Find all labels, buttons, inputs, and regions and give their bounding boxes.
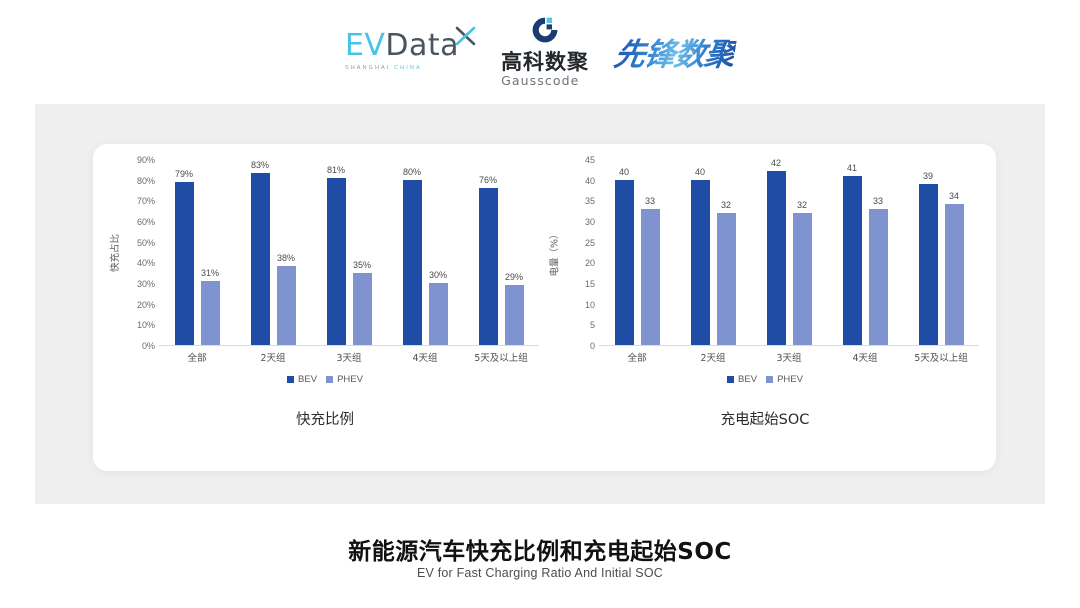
- y-axis-title-text: 电量（%）: [547, 229, 561, 276]
- bar-value-label: 29%: [505, 272, 523, 282]
- x-axis-label: 4天组: [412, 350, 437, 364]
- y-axis-tick: 30%: [137, 279, 155, 289]
- bar-value-label: 34: [949, 191, 959, 201]
- bar-value-label: 40: [695, 167, 705, 177]
- y-axis-tick: 15: [585, 279, 595, 289]
- bar-group: 81%35%: [311, 159, 387, 345]
- legend-label: PHEV: [337, 374, 363, 385]
- bar-group: 4232: [751, 159, 827, 345]
- bar-phev: 38%: [277, 266, 296, 345]
- x-axis-label: 2天组: [260, 350, 285, 364]
- bar-bev: 80%: [403, 180, 422, 345]
- bar-group: 4133: [827, 159, 903, 345]
- gausscode-logo: 高科数聚 Gausscode: [501, 15, 589, 88]
- chart-initial-soc: 电量（%） 454035302520151050 403340324232413…: [545, 160, 985, 460]
- x-axis-label: 全部: [187, 350, 206, 364]
- legend-label: BEV: [738, 374, 757, 385]
- bar-phev: 32: [793, 213, 812, 345]
- bar-value-label: 30%: [429, 270, 447, 280]
- evdata-logo: EVData SHANGHAI CHINA: [345, 31, 475, 72]
- gausscode-en-name: Gausscode: [501, 75, 589, 88]
- bar-value-label: 41: [847, 163, 857, 173]
- legend-swatch-icon: [326, 376, 333, 383]
- y-axis-tick: 10: [585, 300, 595, 310]
- y-axis-tick: 70%: [137, 196, 155, 206]
- evdata-tagline: SHANGHAI CHINA: [345, 66, 459, 72]
- y-axis-tick: 10%: [137, 320, 155, 330]
- legend-item-bev[interactable]: BEV: [287, 374, 317, 385]
- y-axis-tick: 0%: [142, 341, 155, 351]
- bar-phev: 30%: [429, 283, 448, 345]
- legend-swatch-icon: [287, 376, 294, 383]
- bar-bev: 40: [615, 180, 634, 345]
- y-axis-tick: 20: [585, 258, 595, 268]
- bar-phev: 35%: [353, 273, 372, 345]
- x-axis-label: 4天组: [852, 350, 877, 364]
- evdata-tagline-country: CHINA: [394, 65, 422, 71]
- bar-value-label: 31%: [201, 268, 219, 278]
- y-axis-tick: 5: [590, 320, 595, 330]
- y-axis-tick: 20%: [137, 300, 155, 310]
- chart-caption: 快充比例: [105, 408, 545, 429]
- page-subtitle: EV for Fast Charging Ratio And Initial S…: [0, 566, 1080, 580]
- bar-group: 80%30%: [387, 159, 463, 345]
- bar-value-label: 40: [619, 167, 629, 177]
- bar-value-label: 38%: [277, 253, 295, 263]
- bar-value-label: 76%: [479, 175, 497, 185]
- bar-group: 76%29%: [463, 159, 539, 345]
- chart-legend: BEVPHEV: [545, 372, 985, 386]
- gausscode-text: 高科数聚 Gausscode: [501, 52, 589, 88]
- x-axis-label: 3天组: [776, 350, 801, 364]
- x-axis-label: 5天及以上组: [474, 350, 528, 364]
- y-axis-ticks: 90%80%70%60%50%40%30%20%10%0%: [121, 160, 155, 346]
- evdata-ev-text: EV: [345, 28, 385, 63]
- xianfeng-wordmark: 先锋数聚: [611, 29, 738, 74]
- x-cross-icon: [455, 25, 477, 47]
- bar-bev: 83%: [251, 173, 270, 345]
- chart-legend: BEVPHEV: [105, 372, 545, 386]
- plot-area: 40334032423241333934: [599, 160, 979, 346]
- evdata-data-text: Data: [385, 28, 459, 63]
- bar-value-label: 32: [797, 200, 807, 210]
- legend-item-phev[interactable]: PHEV: [326, 374, 363, 385]
- page-title: 新能源汽车快充比例和充电起始SOC: [0, 532, 1080, 566]
- charts-card: 快充占比 90%80%70%60%50%40%30%20%10%0% 79%31…: [93, 144, 996, 471]
- y-axis-tick: 80%: [137, 176, 155, 186]
- bar-group: 3934: [903, 159, 979, 345]
- legend-item-phev[interactable]: PHEV: [766, 374, 803, 385]
- bar-value-label: 32: [721, 200, 731, 210]
- plot-area-wrapper: 快充占比 90%80%70%60%50%40%30%20%10%0% 79%31…: [105, 160, 545, 365]
- x-axis-label: 2天组: [700, 350, 725, 364]
- bar-phev: 31%: [201, 281, 220, 345]
- evdata-tagline-city: SHANGHAI: [345, 65, 391, 71]
- chart-caption: 充电起始SOC: [545, 408, 985, 429]
- bar-group: 4033: [599, 159, 675, 345]
- y-axis-tick: 30: [585, 217, 595, 227]
- y-axis-tick: 40%: [137, 258, 155, 268]
- bar-phev: 33: [641, 209, 660, 345]
- bar-group: 79%31%: [159, 159, 235, 345]
- y-axis-tick: 25: [585, 238, 595, 248]
- bar-bev: 79%: [175, 182, 194, 345]
- bar-phev: 34: [945, 204, 964, 345]
- plot-area: 79%31%83%38%81%35%80%30%76%29%: [159, 160, 539, 346]
- y-axis-tick: 0: [590, 341, 595, 351]
- x-axis-label: 5天及以上组: [914, 350, 968, 364]
- y-axis-tick: 60%: [137, 217, 155, 227]
- y-axis-title-text: 快充占比: [107, 234, 121, 272]
- bar-value-label: 33: [645, 196, 655, 206]
- legend-swatch-icon: [766, 376, 773, 383]
- bar-value-label: 79%: [175, 169, 193, 179]
- y-axis-tick: 45: [585, 155, 595, 165]
- bar-phev: 32: [717, 213, 736, 345]
- legend-label: BEV: [298, 374, 317, 385]
- y-axis-tick: 40: [585, 176, 595, 186]
- bar-value-label: 35%: [353, 260, 371, 270]
- plot-area-wrapper: 电量（%） 454035302520151050 403340324232413…: [545, 160, 985, 365]
- bar-bev: 39: [919, 184, 938, 345]
- gausscode-c-icon: [530, 15, 560, 45]
- slide-page: EVData SHANGHAI CHINA 高科数聚 Gausscode: [0, 0, 1080, 608]
- y-axis-ticks: 454035302520151050: [561, 160, 595, 346]
- x-axis-labels: 全部2天组3天组4天组5天及以上组: [599, 350, 979, 366]
- y-axis-title: 电量（%）: [547, 160, 561, 346]
- bar-group: 83%38%: [235, 159, 311, 345]
- legend-label: PHEV: [777, 374, 803, 385]
- evdata-wordmark: EVData: [345, 31, 459, 61]
- x-axis-labels: 全部2天组3天组4天组5天及以上组: [159, 350, 539, 366]
- bar-phev: 29%: [505, 285, 524, 345]
- y-axis-tick: 35: [585, 196, 595, 206]
- gausscode-cn-name: 高科数聚: [501, 52, 589, 73]
- x-axis-label: 全部: [627, 350, 646, 364]
- bar-group: 4032: [675, 159, 751, 345]
- xianfeng-logo: 先锋数聚: [615, 29, 735, 74]
- bar-value-label: 39: [923, 171, 933, 181]
- bar-value-label: 80%: [403, 167, 421, 177]
- bar-bev: 76%: [479, 188, 498, 345]
- bar-value-label: 33: [873, 196, 883, 206]
- bar-value-label: 83%: [251, 160, 269, 170]
- y-axis-tick: 50%: [137, 238, 155, 248]
- bar-value-label: 42: [771, 158, 781, 168]
- bar-bev: 40: [691, 180, 710, 345]
- bar-bev: 41: [843, 176, 862, 345]
- bar-value-label: 81%: [327, 165, 345, 175]
- y-axis-tick: 90%: [137, 155, 155, 165]
- y-axis-title: 快充占比: [107, 160, 121, 346]
- chart-fast-charging-ratio: 快充占比 90%80%70%60%50%40%30%20%10%0% 79%31…: [105, 160, 545, 460]
- bar-phev: 33: [869, 209, 888, 345]
- logo-bar: EVData SHANGHAI CHINA 高科数聚 Gausscode: [0, 20, 1080, 82]
- legend-item-bev[interactable]: BEV: [727, 374, 757, 385]
- bar-bev: 81%: [327, 178, 346, 345]
- legend-swatch-icon: [727, 376, 734, 383]
- x-axis-label: 3天组: [336, 350, 361, 364]
- bar-bev: 42: [767, 171, 786, 345]
